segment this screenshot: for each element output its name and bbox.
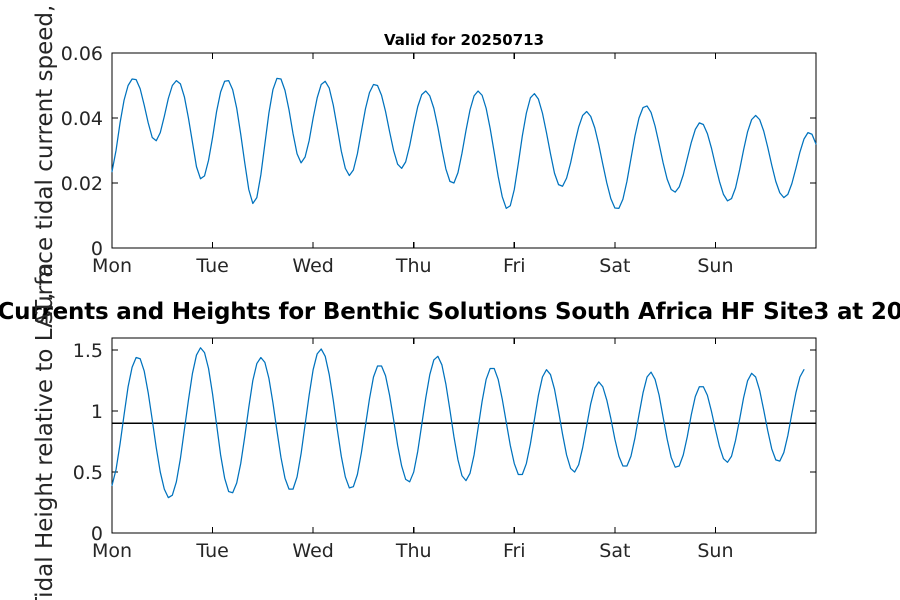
- y-tick-label: 1: [91, 401, 103, 423]
- x-tick-label: Fri: [503, 540, 526, 562]
- series-line-surface-current-speed: [112, 78, 816, 208]
- x-tick-label: Mon: [92, 540, 132, 562]
- tide-forecast-figure: Valid for 20250713 Surface tidal current…: [0, 0, 900, 600]
- y-tick-label: 0.04: [61, 108, 103, 130]
- x-tick-label: Thu: [395, 540, 432, 562]
- x-tick-label: Mon: [92, 255, 132, 277]
- axes-frame-top: [112, 53, 816, 248]
- y-tick-labels-bottom: 00.511.5: [73, 340, 103, 545]
- x-tick-label: Sun: [697, 255, 733, 277]
- x-tick-label: Tue: [195, 540, 228, 562]
- series-line-tidal-height: [112, 348, 804, 498]
- x-tick-label: Sat: [599, 255, 630, 277]
- x-tick-label: Tue: [195, 255, 228, 277]
- subplot-title-top: Valid for 20250713: [384, 31, 544, 49]
- x-tick-labels-bottom: MonTueWedThuFriSatSun: [92, 540, 734, 562]
- x-tick-label: Sat: [599, 540, 630, 562]
- y-axis-label-bottom: Tidal Height relative to LAT, m: [32, 263, 58, 600]
- x-tick-label: Fri: [503, 255, 526, 277]
- y-tick-label: 0.5: [73, 462, 103, 484]
- x-tick-label: Wed: [292, 255, 333, 277]
- x-tick-label: Thu: [395, 255, 432, 277]
- figure-canvas: Valid for 20250713 Surface tidal current…: [0, 0, 900, 600]
- y-tick-label: 1.5: [73, 340, 103, 362]
- x-tick-labels-top: MonTueWedThuFriSatSun: [92, 255, 734, 277]
- x-tick-label: Wed: [292, 540, 333, 562]
- y-tick-labels-top: 00.020.040.06: [61, 43, 103, 260]
- y-tick-label: 0.06: [61, 43, 103, 65]
- tick-marks-top: [112, 53, 816, 248]
- figure-suptitle: Currents and Heights for Benthic Solutio…: [0, 299, 900, 325]
- y-tick-label: 0.02: [61, 173, 103, 195]
- x-tick-label: Sun: [697, 540, 733, 562]
- subplot-surface-current-speed: Valid for 20250713 Surface tidal current…: [32, 0, 816, 325]
